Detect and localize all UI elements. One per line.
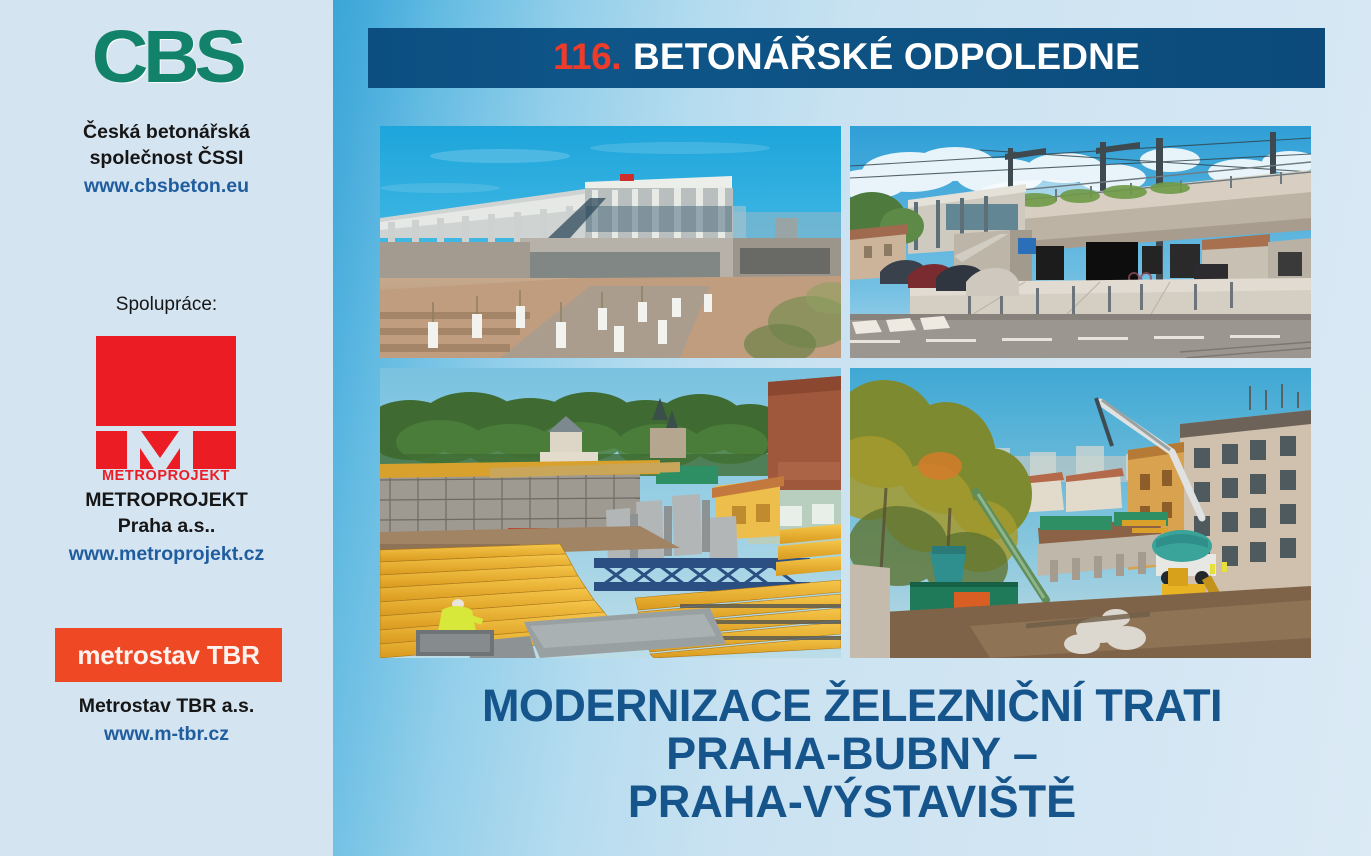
page-title-line-2: PRAHA-BUBNY – xyxy=(333,730,1371,778)
metrostav-text-block: Metrostav TBR a.s. www.m-tbr.cz xyxy=(0,694,333,748)
main-panel: 116. BETONÁŘSKÉ ODPOLEDNE xyxy=(333,0,1371,856)
metrostav-tbr-logo-text: metrostav TBR xyxy=(77,640,259,671)
metroprojekt-name-line-2: Praha a.s.. xyxy=(0,514,333,540)
cbs-org-line-2: společnost ČSSI xyxy=(0,146,333,172)
page-title: MODERNIZACE ŽELEZNIČNÍ TRATI PRAHA-BUBNY… xyxy=(333,682,1371,826)
page-title-line-3: PRAHA-VÝSTAVIŠTĚ xyxy=(333,778,1371,826)
photo-viaduct-street-image xyxy=(850,126,1311,358)
metrostav-website-link[interactable]: www.m-tbr.cz xyxy=(0,722,333,748)
metrostav-tbr-logo: metrostav TBR xyxy=(55,628,282,682)
photo-construction-concrete-pump-image xyxy=(850,368,1311,658)
metroprojekt-logo-wordmark: METROPROJEKT xyxy=(96,468,236,484)
photo-construction-concrete-pump xyxy=(850,368,1311,658)
photo-station-exterior-image xyxy=(380,126,841,358)
cbs-logo-block: CBS xyxy=(0,20,333,94)
cooperation-label: Spolupráce: xyxy=(0,294,333,316)
event-number: 116. xyxy=(553,36,621,78)
photo-construction-formwork xyxy=(380,368,841,658)
metroprojekt-logo-m-icon xyxy=(96,431,236,469)
metrostav-name: Metrostav TBR a.s. xyxy=(0,694,333,720)
cbs-logo: CBS xyxy=(92,20,242,94)
metroprojekt-website-link[interactable]: www.metroprojekt.cz xyxy=(0,542,333,568)
metroprojekt-logo: METROPROJEKT xyxy=(96,336,236,478)
event-banner-inner: 116. BETONÁŘSKÉ ODPOLEDNE xyxy=(553,36,1140,78)
sidebar: CBS Česká betonářská společnost ČSSI www… xyxy=(0,0,333,856)
metroprojekt-text-block: METROPROJEKT Praha a.s.. www.metroprojek… xyxy=(0,488,333,568)
event-title: BETONÁŘSKÉ ODPOLEDNE xyxy=(633,36,1140,78)
page-title-line-1: MODERNIZACE ŽELEZNIČNÍ TRATI xyxy=(333,682,1371,730)
metroprojekt-name-line-1: METROPROJEKT xyxy=(0,488,333,514)
photo-grid xyxy=(380,126,1325,658)
event-banner: 116. BETONÁŘSKÉ ODPOLEDNE xyxy=(368,28,1325,88)
cbs-text-block: Česká betonářská společnost ČSSI www.cbs… xyxy=(0,120,333,200)
poster-root: CBS Česká betonářská společnost ČSSI www… xyxy=(0,0,1371,856)
photo-viaduct-street xyxy=(850,126,1311,358)
cbs-org-line-1: Česká betonářská xyxy=(0,120,333,146)
photo-station-exterior xyxy=(380,126,841,358)
metroprojekt-logo-square xyxy=(96,336,236,426)
photo-construction-formwork-image xyxy=(380,368,841,658)
cbs-website-link[interactable]: www.cbsbeton.eu xyxy=(0,174,333,200)
